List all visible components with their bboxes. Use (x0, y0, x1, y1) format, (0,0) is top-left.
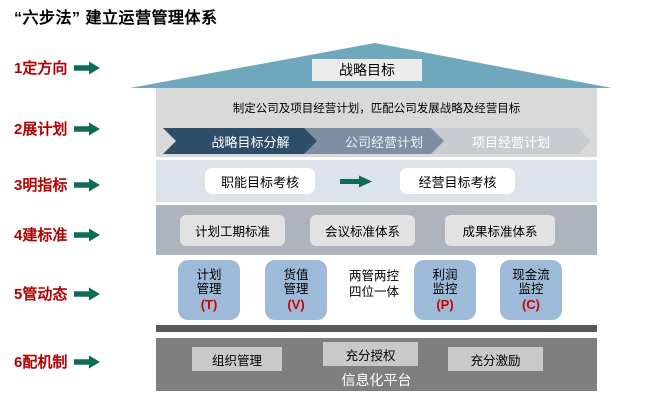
strategic-goal-box[interactable]: 战略目标 (312, 59, 422, 81)
arrow-right-icon (74, 355, 100, 369)
mechanism-box-3[interactable]: 充分激励 (448, 347, 543, 371)
dynamic-center-line2: 四位一体 (334, 284, 414, 300)
step-item-5[interactable]: 5管动态 (14, 283, 100, 304)
dynamic-box-plan-code: (T) (201, 297, 218, 312)
arrow-right-icon (74, 287, 100, 301)
strategic-goal-label: 战略目标 (339, 60, 395, 80)
platform-label: 信息化平台 (156, 370, 597, 390)
mechanism-box-3-label: 充分激励 (470, 350, 520, 369)
dynamic-box-profit[interactable]: 利润 监控 (P) (414, 260, 476, 320)
plan-description: 制定公司及项目经营计划，匹配公司发展战略及经营目标 (156, 100, 597, 116)
dynamic-box-value[interactable]: 货值 管理 (V) (265, 260, 327, 320)
step-label-5: 5管动态 (14, 283, 67, 304)
step-label-1: 1定方向 (14, 57, 67, 78)
step-item-1[interactable]: 1定方向 (14, 57, 100, 78)
dynamic-box-profit-code: (P) (436, 297, 453, 312)
mechanism-box-2[interactable]: 充分授权 (323, 342, 418, 366)
arrow-right-icon (74, 228, 100, 242)
chevron-3-label: 项目经营计划 (431, 128, 591, 154)
index-box-functional[interactable]: 职能目标考核 (205, 168, 315, 194)
dynamic-box-profit-line1: 利润 (432, 268, 457, 283)
index-box-functional-label: 职能目标考核 (221, 172, 299, 191)
arrow-right-icon (74, 61, 100, 75)
step-item-3[interactable]: 3明指标 (14, 174, 100, 195)
mechanism-box-1-label: 组织管理 (212, 350, 262, 369)
standard-box-1[interactable]: 计划工期标准 (180, 215, 285, 246)
standard-box-1-label: 计划工期标准 (195, 221, 270, 240)
step-item-2[interactable]: 2展计划 (14, 118, 100, 139)
dynamic-box-cash[interactable]: 现金流 监控 (C) (500, 260, 562, 320)
dynamic-box-value-line2: 管理 (283, 282, 308, 297)
foundation-divider (156, 325, 597, 332)
step-label-6: 6配机制 (14, 351, 67, 372)
dynamic-box-plan-line1: 计划 (196, 268, 221, 283)
step-item-4[interactable]: 4建标准 (14, 224, 100, 245)
dynamic-center-line1: 两管两控 (334, 268, 414, 284)
dynamic-box-plan-line2: 管理 (196, 282, 221, 297)
standard-box-3-label: 成果标准体系 (462, 221, 537, 240)
standard-box-2[interactable]: 会议标准体系 (310, 215, 415, 246)
chevron-sequence: 战略目标分解 公司经营计划 项目经营计划 (163, 128, 583, 154)
arrow-right-icon (74, 178, 100, 192)
index-box-operational-label: 经营目标考核 (418, 172, 496, 191)
step-label-2: 2展计划 (14, 118, 67, 139)
arrow-right-icon (74, 122, 100, 136)
dynamic-box-plan[interactable]: 计划 管理 (T) (178, 260, 240, 320)
dynamic-box-value-code: (V) (287, 297, 304, 312)
dynamic-box-profit-line2: 监控 (432, 282, 457, 297)
mechanism-box-2-label: 充分授权 (345, 345, 395, 364)
index-box-operational[interactable]: 经营目标考核 (400, 168, 515, 194)
dynamic-box-cash-line2: 监控 (518, 282, 543, 297)
dynamic-center-text: 两管两控 四位一体 (334, 268, 414, 301)
diagram-canvas: “六步法” 建立运营管理体系 1定方向 2展计划 3明指标 4建标准 5管动态 … (0, 0, 650, 406)
arrow-right-icon (340, 175, 372, 188)
step-item-6[interactable]: 6配机制 (14, 351, 100, 372)
mechanism-box-1[interactable]: 组织管理 (192, 347, 282, 371)
standard-box-2-label: 会议标准体系 (325, 221, 400, 240)
step-label-4: 4建标准 (14, 224, 67, 245)
dynamic-box-cash-code: (C) (522, 297, 540, 312)
page-title: “六步法” 建立运营管理体系 (14, 4, 217, 28)
standard-box-3[interactable]: 成果标准体系 (445, 215, 555, 246)
dynamic-box-cash-line1: 现金流 (512, 268, 550, 283)
dynamic-box-value-line1: 货值 (283, 268, 308, 283)
step-label-3: 3明指标 (14, 174, 67, 195)
